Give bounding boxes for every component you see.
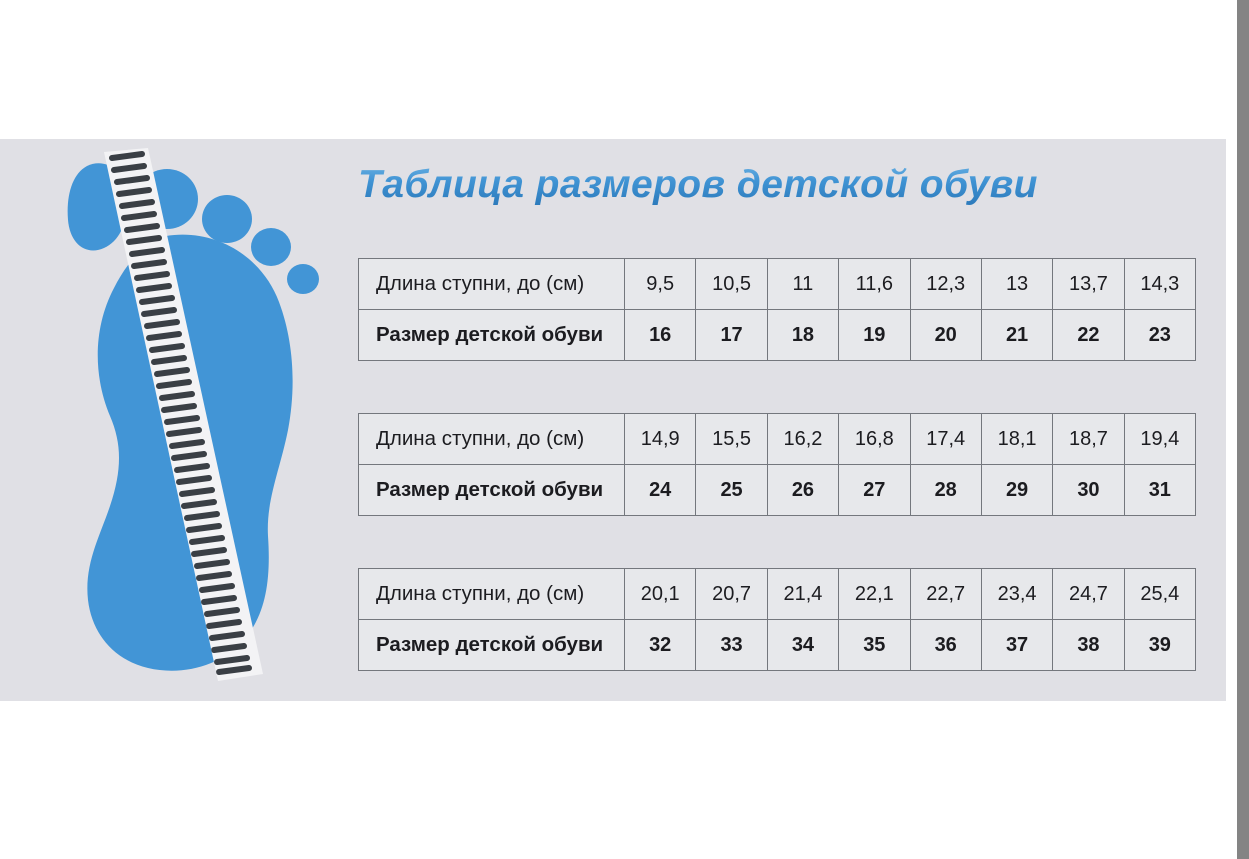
cell-length: 13 — [981, 259, 1052, 310]
cell-length: 25,4 — [1124, 569, 1195, 620]
cell-size: 34 — [767, 620, 838, 671]
cell-size: 23 — [1124, 310, 1195, 361]
cell-length: 11,6 — [839, 259, 910, 310]
cell-size: 30 — [1053, 465, 1124, 516]
cell-size: 39 — [1124, 620, 1195, 671]
size-chart-card: Таблица размеров детской обуви Длина сту… — [0, 139, 1226, 701]
cell-size: 25 — [696, 465, 767, 516]
cell-size: 26 — [767, 465, 838, 516]
row-label: Длина ступни, до (см) — [359, 414, 625, 465]
cell-size: 27 — [839, 465, 910, 516]
cell-size: 35 — [839, 620, 910, 671]
cell-length: 22,7 — [910, 569, 981, 620]
cell-length: 15,5 — [696, 414, 767, 465]
cell-size: 17 — [696, 310, 767, 361]
cell-length: 23,4 — [981, 569, 1052, 620]
cell-size: 18 — [767, 310, 838, 361]
table-row: Размер детской обуви 32 33 34 35 36 37 3… — [359, 620, 1196, 671]
cell-length: 11 — [767, 259, 838, 310]
row-label: Размер детской обуви — [359, 465, 625, 516]
cell-length: 13,7 — [1053, 259, 1124, 310]
row-label: Размер детской обуви — [359, 620, 625, 671]
cell-length: 16,8 — [839, 414, 910, 465]
cell-length: 21,4 — [767, 569, 838, 620]
size-table-1: Длина ступни, до (см) 9,5 10,5 11 11,6 1… — [358, 258, 1196, 361]
row-label: Размер детской обуви — [359, 310, 625, 361]
cell-size: 37 — [981, 620, 1052, 671]
cell-size: 38 — [1053, 620, 1124, 671]
cell-size: 29 — [981, 465, 1052, 516]
page-root: Таблица размеров детской обуви Длина сту… — [0, 0, 1249, 859]
cell-length: 18,1 — [981, 414, 1052, 465]
table-row: Размер детской обуви 16 17 18 19 20 21 2… — [359, 310, 1196, 361]
cell-length: 16,2 — [767, 414, 838, 465]
cell-length: 22,1 — [839, 569, 910, 620]
cell-size: 32 — [625, 620, 696, 671]
table-row: Длина ступни, до (см) 20,1 20,7 21,4 22,… — [359, 569, 1196, 620]
table-row: Размер детской обуви 24 25 26 27 28 29 3… — [359, 465, 1196, 516]
row-label: Длина ступни, до (см) — [359, 569, 625, 620]
row-label: Длина ступни, до (см) — [359, 259, 625, 310]
cell-length: 18,7 — [1053, 414, 1124, 465]
cell-length: 19,4 — [1124, 414, 1195, 465]
cell-length: 12,3 — [910, 259, 981, 310]
page-title: Таблица размеров детской обуви — [358, 161, 1208, 209]
cell-size: 19 — [839, 310, 910, 361]
cell-size: 22 — [1053, 310, 1124, 361]
cell-length: 20,1 — [625, 569, 696, 620]
size-table-3: Длина ступни, до (см) 20,1 20,7 21,4 22,… — [358, 568, 1196, 671]
cell-length: 10,5 — [696, 259, 767, 310]
cell-length: 14,3 — [1124, 259, 1195, 310]
cell-size: 31 — [1124, 465, 1195, 516]
cell-size: 16 — [625, 310, 696, 361]
chart-content: Таблица размеров детской обуви Длина сту… — [345, 139, 1210, 701]
cell-length: 20,7 — [696, 569, 767, 620]
cell-size: 28 — [910, 465, 981, 516]
cell-size: 36 — [910, 620, 981, 671]
cell-length: 14,9 — [625, 414, 696, 465]
cell-length: 17,4 — [910, 414, 981, 465]
cell-size: 21 — [981, 310, 1052, 361]
cell-size: 20 — [910, 310, 981, 361]
size-table-2: Длина ступни, до (см) 14,9 15,5 16,2 16,… — [358, 413, 1196, 516]
footprint-illustration — [30, 144, 330, 689]
cell-length: 9,5 — [625, 259, 696, 310]
cell-length: 24,7 — [1053, 569, 1124, 620]
cell-size: 33 — [696, 620, 767, 671]
right-scroll-strip[interactable] — [1237, 0, 1249, 859]
cell-size: 24 — [625, 465, 696, 516]
table-row: Длина ступни, до (см) 14,9 15,5 16,2 16,… — [359, 414, 1196, 465]
table-row: Длина ступни, до (см) 9,5 10,5 11 11,6 1… — [359, 259, 1196, 310]
